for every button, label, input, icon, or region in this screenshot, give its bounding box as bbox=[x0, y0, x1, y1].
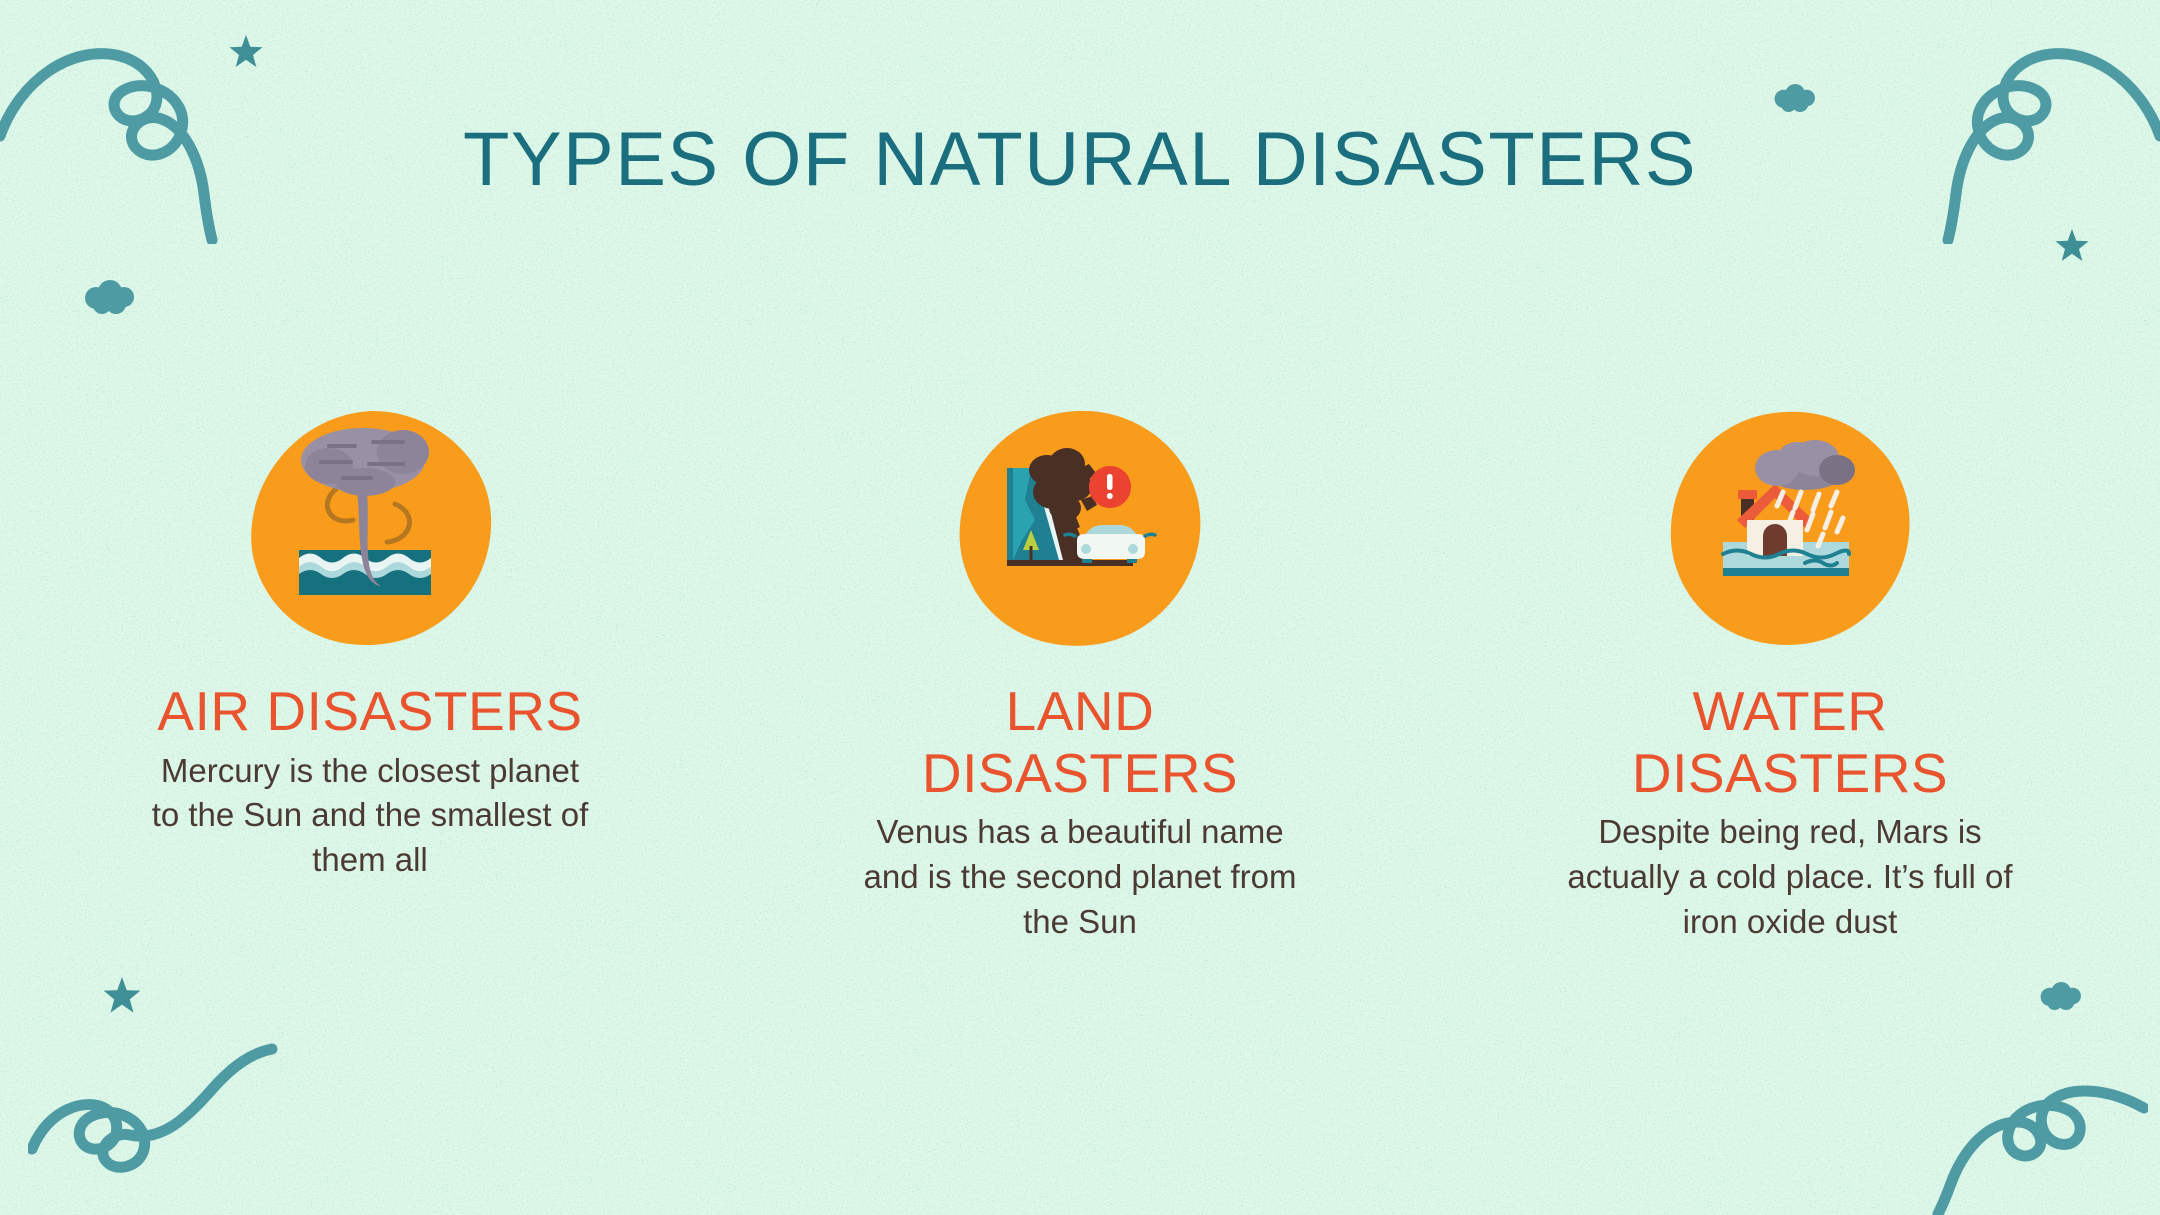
star-top-right-icon bbox=[2054, 228, 2090, 264]
flooded-house-icon bbox=[1665, 408, 1915, 653]
star-top-left-icon bbox=[228, 34, 264, 70]
swirl-bottom-right-icon bbox=[1848, 1000, 2148, 1215]
swirl-bottom-left-icon bbox=[28, 1031, 328, 1211]
star-bottom-left-icon bbox=[102, 976, 142, 1016]
slide-canvas: TYPES OF NATURAL DISASTERS bbox=[0, 0, 2160, 1215]
cards-row: AIR DISASTERS Mercury is the closest pla… bbox=[0, 408, 2160, 945]
card-title: AIR DISASTERS bbox=[157, 681, 582, 743]
card-air-disasters[interactable]: AIR DISASTERS Mercury is the closest pla… bbox=[135, 408, 605, 945]
card-body: Venus has a beautiful name and is the se… bbox=[860, 810, 1300, 945]
card-body: Mercury is the closest planet to the Sun… bbox=[145, 749, 595, 884]
cloud-left-icon bbox=[80, 280, 142, 314]
card-title: LAND DISASTERS bbox=[845, 681, 1315, 804]
cloud-bottom-right-icon bbox=[2036, 982, 2088, 1010]
card-water-disasters[interactable]: WATER DISASTERS Despite being red, Mars … bbox=[1555, 408, 2025, 945]
landslide-icon bbox=[955, 408, 1205, 653]
card-land-disasters[interactable]: LAND DISASTERS Venus has a beautiful nam… bbox=[845, 408, 1315, 945]
card-body: Despite being red, Mars is actually a co… bbox=[1555, 810, 2025, 945]
cloud-top-right-icon bbox=[1770, 84, 1822, 112]
card-title: WATER DISASTERS bbox=[1555, 681, 2025, 804]
page-title: TYPES OF NATURAL DISASTERS bbox=[0, 122, 2160, 198]
tornado-over-water-icon bbox=[245, 408, 495, 653]
